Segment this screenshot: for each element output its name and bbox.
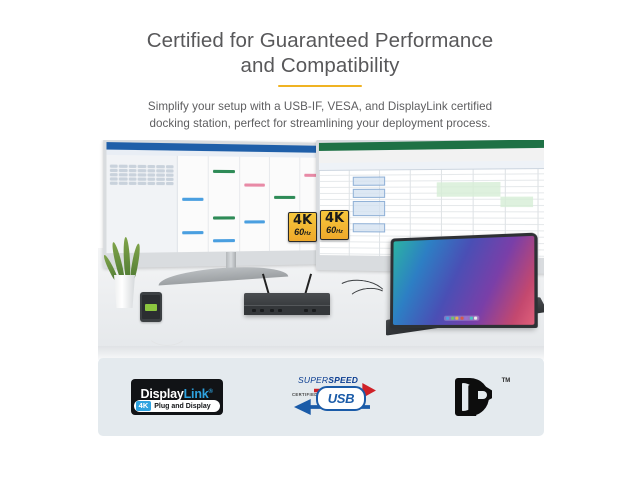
spreadsheet-highlight [437, 182, 501, 197]
spreadsheet-selection [353, 189, 385, 198]
displaylink-subbadge: 4K Plug and Display [134, 400, 220, 412]
usb-certified-label: CERTIFIED [292, 392, 318, 397]
product-feature-page: Certified for Guaranteed Performance and… [0, 0, 640, 480]
displaylink-tagline: Plug and Display [154, 403, 210, 410]
calendar-column [178, 156, 209, 252]
page-subtitle: Simplify your setup with a USB-IF, VESA,… [0, 98, 640, 132]
displaylink-logo: DisplayLink® 4K Plug and Display [131, 379, 223, 415]
page-title: Certified for Guaranteed Performance and… [0, 28, 640, 78]
badge-4k-right: 4K 60Hz [320, 210, 349, 240]
calendar-column [240, 157, 270, 252]
product-photo: 4K 60Hz 4K 60Hz [98, 140, 544, 360]
badge-4k-left: 4K 60Hz [288, 212, 317, 242]
page-title-line-2: and Compatibility [0, 53, 640, 78]
mini-calendar [110, 165, 174, 186]
laptop-screen [393, 236, 535, 325]
laptop-dock-bar [444, 316, 479, 321]
badge-resolution: 4K [325, 213, 344, 225]
displayport-trademark: TM [502, 378, 511, 384]
page-subtitle-line-2: docking station, perfect for streamlinin… [150, 117, 491, 130]
usb-wordmark-badge: USB [316, 386, 366, 411]
displaylink-4k-label: 4K [136, 401, 152, 411]
spreadsheet-selection [353, 201, 385, 216]
spreadsheet-selection [353, 177, 385, 186]
badge-refresh: 60Hz [326, 225, 343, 237]
calendar-sidebar [106, 155, 177, 253]
dock-front-ports [244, 305, 330, 315]
battery-charging-icon [145, 304, 157, 311]
phone-screen [142, 295, 160, 319]
calendar-column [209, 156, 240, 251]
page-subtitle-line-1: Simplify your setup with a USB-IF, VESA,… [148, 100, 492, 113]
page-title-line-1: Certified for Guaranteed Performance [147, 29, 494, 52]
superspeed-label: SUPERSPEED [298, 375, 358, 385]
phone-cable [146, 318, 188, 346]
superspeed-usb-logo: SUPERSPEED CERTIFIED USB [288, 373, 384, 421]
smartphone [140, 292, 162, 322]
spreadsheet-highlight [500, 197, 533, 208]
displayport-logo: TM [449, 375, 511, 419]
usb-wordmark: USB [328, 391, 355, 406]
spreadsheet-selection [353, 223, 385, 232]
certification-logos: DisplayLink® 4K Plug and Display SUPERSP… [98, 358, 544, 436]
accent-divider [278, 85, 362, 87]
displaylink-wordmark: DisplayLink® [141, 387, 213, 401]
badge-refresh: 60Hz [294, 227, 311, 239]
laptop-lid [390, 233, 538, 328]
badge-resolution: 4K [293, 215, 312, 227]
